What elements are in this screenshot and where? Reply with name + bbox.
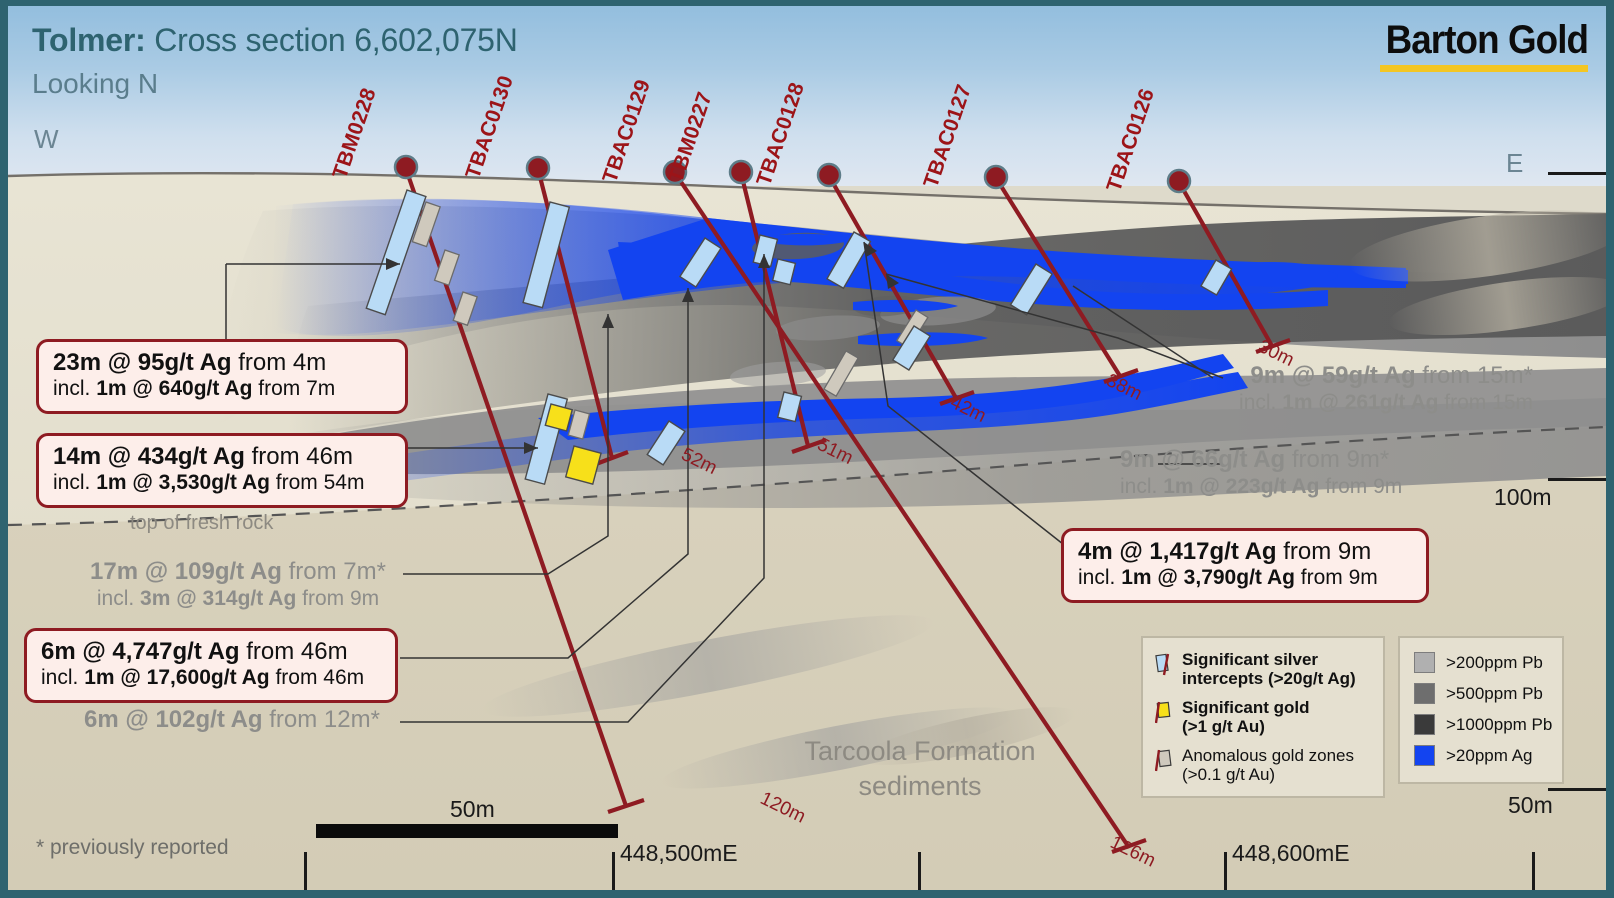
callout-3-line1: 17m @ 109g/t Ag from 7m* [68, 558, 408, 586]
elevation-tick-100m [1548, 478, 1606, 481]
callout-6-line2: incl. 1m @ 261g/t Ag from 15m [1103, 390, 1533, 415]
easting-tick-2 [612, 852, 615, 890]
east-direction-label: E [1506, 148, 1523, 179]
formation-label-line2: sediments [798, 769, 1042, 804]
key-row-pb500: >500ppm Pb [1414, 683, 1562, 704]
scale-bar-label: 50m [450, 796, 495, 823]
callout-6-line1: 9m @ 59g/t Ag from 15m* [1103, 362, 1533, 390]
swatch-pb200 [1414, 652, 1435, 673]
callout-7-line1: 9m @ 66g/t Ag from 9m* [1120, 446, 1550, 474]
cross-section-figure: Tolmer: Cross section 6,602,075N Looking… [0, 0, 1614, 898]
callout-3-line2: incl. 3m @ 314g/t Ag from 9m [68, 586, 408, 611]
legend-anomalous-line1: Anomalous gold zones [1182, 746, 1354, 765]
easting-label-1: 448,500mE [620, 840, 738, 867]
legend-anomalous-text: Anomalous gold zones (>0.1 g/t Au) [1182, 746, 1354, 785]
page-subtitle: Looking N [32, 68, 158, 100]
legend-item-gold: Significant gold (>1 g/t Au) [1155, 698, 1373, 737]
legend-gold-text: Significant gold (>1 g/t Au) [1182, 698, 1310, 737]
legend-silver-text: Significant silver intercepts (>20g/t Ag… [1182, 650, 1356, 689]
callout-4-line1: 6m @ 4,747g/t Ag from 46m [41, 638, 381, 666]
easting-tick-1 [304, 852, 307, 890]
intercept-callout-2: 14m @ 434g/t Ag from 46m incl. 1m @ 3,53… [36, 433, 408, 508]
swatch-ag20 [1414, 745, 1435, 766]
callout-2-line2: incl. 1m @ 3,530g/t Ag from 54m [53, 471, 391, 496]
callout-1-line1: 23m @ 95g/t Ag from 4m [53, 349, 391, 377]
callout-5-line1: 6m @ 102g/t Ag from 12m* [64, 706, 400, 734]
formation-label: Tarcoola Formation sediments [798, 734, 1042, 803]
brand-logo: Barton Gold [1368, 18, 1588, 72]
intercept-callout-6: 9m @ 59g/t Ag from 15m* incl. 1m @ 261g/… [1103, 362, 1533, 415]
elevation-label-100m: 100m [1494, 484, 1552, 511]
key-label-pb200: >200ppm Pb [1446, 653, 1543, 673]
west-direction-label: W [34, 124, 59, 155]
page-title-rest: Cross section 6,602,075N [146, 22, 518, 58]
easting-tick-5 [1532, 852, 1535, 890]
intercept-callout-7: 9m @ 66g/t Ag from 9m* incl. 1m @ 223g/t… [1120, 446, 1550, 499]
anomalous-gold-icon [1155, 748, 1175, 774]
callout-4-line2: incl. 1m @ 17,600g/t Ag from 46m [41, 666, 381, 691]
legend-gold-line1: Significant gold [1182, 698, 1310, 717]
legend-item-anomalous: Anomalous gold zones (>0.1 g/t Au) [1155, 746, 1373, 785]
elevation-tick-top [1548, 172, 1606, 175]
footnote-previously-reported: * previously reported [36, 836, 229, 860]
gold-intercept-icon [1155, 700, 1175, 726]
callout-7-line2: incl. 1m @ 223g/t Ag from 9m [1120, 474, 1550, 499]
legend-gold-line2: (>1 g/t Au) [1182, 717, 1310, 736]
formation-label-line1: Tarcoola Formation [798, 734, 1042, 769]
elevation-label-50m: 50m [1508, 792, 1553, 819]
scale-bar [316, 824, 618, 838]
intercept-callout-8: 4m @ 1,417g/t Ag from 9m incl. 1m @ 3,79… [1061, 528, 1429, 603]
easting-label-2: 448,600mE [1232, 840, 1350, 867]
callout-1-line2: incl. 1m @ 640g/t Ag from 7m [53, 377, 391, 402]
callout-8-line1: 4m @ 1,417g/t Ag from 9m [1078, 538, 1412, 566]
legend-anomalous-line2: (>0.1 g/t Au) [1182, 765, 1354, 784]
key-row-ag20: >20ppm Ag [1414, 745, 1562, 766]
key-label-ag20: >20ppm Ag [1446, 746, 1533, 766]
key-row-pb200: >200ppm Pb [1414, 652, 1562, 673]
colour-key-legend: >200ppm Pb >500ppm Pb >1000ppm Pb >20ppm… [1398, 636, 1564, 784]
symbol-legend: Significant silver intercepts (>20g/t Ag… [1141, 636, 1385, 798]
key-label-pb500: >500ppm Pb [1446, 684, 1543, 704]
key-label-pb1000: >1000ppm Pb [1446, 715, 1552, 735]
legend-item-silver: Significant silver intercepts (>20g/t Ag… [1155, 650, 1373, 689]
intercept-callout-4: 6m @ 4,747g/t Ag from 46m incl. 1m @ 17,… [24, 628, 398, 703]
page-title-bold: Tolmer: [32, 22, 146, 58]
intercept-callout-3: 17m @ 109g/t Ag from 7m* incl. 3m @ 314g… [68, 558, 408, 611]
legend-silver-line1: Significant silver [1182, 650, 1356, 669]
key-row-pb1000: >1000ppm Pb [1414, 714, 1562, 735]
page-title: Tolmer: Cross section 6,602,075N [32, 22, 518, 59]
legend-silver-line2: intercepts (>20g/t Ag) [1182, 669, 1356, 688]
callout-2-line1: 14m @ 434g/t Ag from 46m [53, 443, 391, 471]
swatch-pb1000 [1414, 714, 1435, 735]
top-of-fresh-rock-label: top of fresh rock [130, 512, 273, 535]
easting-tick-4 [1224, 852, 1227, 890]
callout-8-line2: incl. 1m @ 3,790g/t Ag from 9m [1078, 566, 1412, 591]
elevation-tick-50m [1548, 788, 1606, 791]
intercept-callout-5: 6m @ 102g/t Ag from 12m* [64, 706, 400, 734]
intercept-callout-1: 23m @ 95g/t Ag from 4m incl. 1m @ 640g/t… [36, 339, 408, 414]
brand-name: Barton Gold [1386, 18, 1588, 63]
figure-frame: Tolmer: Cross section 6,602,075N Looking… [8, 6, 1606, 890]
silver-intercept-icon [1155, 652, 1175, 678]
easting-tick-3 [918, 852, 921, 890]
swatch-pb500 [1414, 683, 1435, 704]
brand-underline [1380, 65, 1588, 72]
